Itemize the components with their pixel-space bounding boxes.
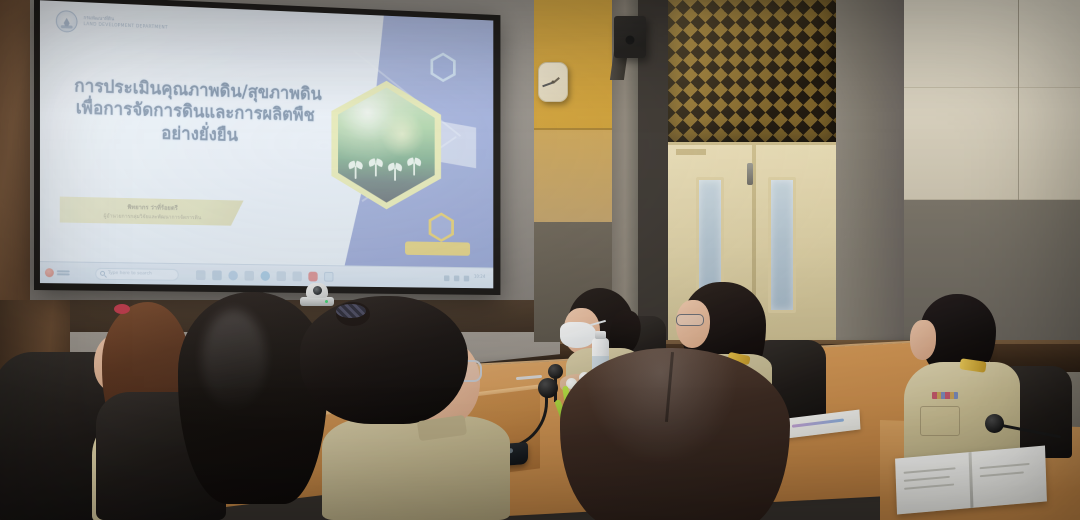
hair-scrunchie xyxy=(336,304,366,318)
taskbar-clock[interactable]: 10:24 xyxy=(474,276,485,281)
microphone-arm xyxy=(1002,424,1061,438)
attendee-with-glasses-foreground xyxy=(300,296,510,520)
hair-tie xyxy=(114,304,130,314)
speaker-name: พิทยากร ว่าที่ร้อยตรี xyxy=(127,201,177,212)
wall-clock xyxy=(538,62,568,102)
conference-room-scene: กรมพัฒนาที่ดิน LAND DEVELOPMENT DEPARTME… xyxy=(0,0,1080,520)
wall-panel-beige-mid xyxy=(904,88,1080,200)
task-view-icon[interactable] xyxy=(196,270,206,280)
taskbar-system-tray[interactable]: 10:24 xyxy=(444,275,489,281)
uniform-pocket xyxy=(920,406,960,436)
taskbar-icon-group xyxy=(196,270,333,281)
slide-speaker-plaque: พิทยากร ว่าที่ร้อยตรี ผู้อำนวยการกลุ่มวิ… xyxy=(60,197,244,226)
wood-column-left xyxy=(0,0,30,330)
volume-icon[interactable] xyxy=(464,275,469,281)
microphone-capsule xyxy=(985,414,1004,433)
slide-title: การประเมินคุณภาพดิน/สุขภาพดิน เพื่อการจั… xyxy=(54,75,341,150)
tray-icon[interactable] xyxy=(444,275,449,281)
link-icon[interactable] xyxy=(245,270,254,280)
hair-highlight xyxy=(202,310,266,410)
amber-wall-panel-lower xyxy=(534,130,618,230)
microphone-capsule xyxy=(538,378,558,398)
sprout-icon xyxy=(388,160,401,181)
youtube-icon[interactable] xyxy=(308,271,317,281)
gooseneck-microphone-right[interactable] xyxy=(985,414,1065,464)
sync-icon[interactable] xyxy=(228,270,237,280)
powerpoint-icon[interactable] xyxy=(324,271,333,281)
face xyxy=(910,320,936,360)
wall-panel-seam xyxy=(1018,0,1019,200)
hair xyxy=(560,348,790,520)
wall-seam xyxy=(534,128,618,130)
explorer-icon[interactable] xyxy=(277,271,286,281)
store-icon[interactable] xyxy=(292,271,301,281)
hair xyxy=(300,296,468,424)
ceiling-speaker xyxy=(614,16,646,58)
mail-icon[interactable] xyxy=(212,270,222,280)
eyeglasses xyxy=(676,314,704,326)
speaker-cone xyxy=(626,36,635,45)
wall-column-right xyxy=(836,0,906,370)
search-icon xyxy=(100,271,105,276)
start-label xyxy=(57,270,70,275)
projection-screen: กรมพัฒนาที่ดิน LAND DEVELOPMENT DEPARTME… xyxy=(34,0,500,295)
start-button[interactable] xyxy=(45,268,70,277)
sprout-icon xyxy=(408,154,421,175)
bottle-cap xyxy=(595,331,606,339)
taskbar-search-input[interactable]: Type here to search xyxy=(95,267,178,280)
slide-org-text: กรมพัฒนาที่ดิน LAND DEVELOPMENT DEPARTME… xyxy=(83,17,167,30)
door-top-bar xyxy=(676,149,706,155)
service-ribbons xyxy=(932,392,958,399)
projection-surface: กรมพัฒนาที่ดิน LAND DEVELOPMENT DEPARTME… xyxy=(40,0,493,288)
start-logo-icon xyxy=(45,268,54,277)
presentation-slide: กรมพัฒนาที่ดิน LAND DEVELOPMENT DEPARTME… xyxy=(40,0,493,267)
lattice-shading xyxy=(668,0,838,142)
document-stripe xyxy=(792,418,844,427)
sprout-icon xyxy=(369,156,382,177)
khaki-uniform xyxy=(322,416,510,520)
network-icon[interactable] xyxy=(454,275,459,281)
slide-org-logo: กรมพัฒนาที่ดิน LAND DEVELOPMENT DEPARTME… xyxy=(56,10,168,37)
door-handle[interactable] xyxy=(747,163,753,185)
search-placeholder: Type here to search xyxy=(108,271,152,277)
attendee-center-foreground xyxy=(560,348,790,520)
clock-hub xyxy=(552,81,555,84)
slide-accent-bar xyxy=(405,241,470,255)
notebook-spine xyxy=(969,452,974,508)
edge-icon[interactable] xyxy=(261,271,270,281)
sprout-icon xyxy=(350,157,363,179)
speaker-role: ผู้อำนวยการกลุ่มวิจัยและพัฒนาการจัดการดิ… xyxy=(104,212,202,222)
seedling-photo-inner xyxy=(338,86,435,204)
wall-panel-beige-top xyxy=(904,0,1080,88)
department-emblem-icon xyxy=(56,10,78,33)
